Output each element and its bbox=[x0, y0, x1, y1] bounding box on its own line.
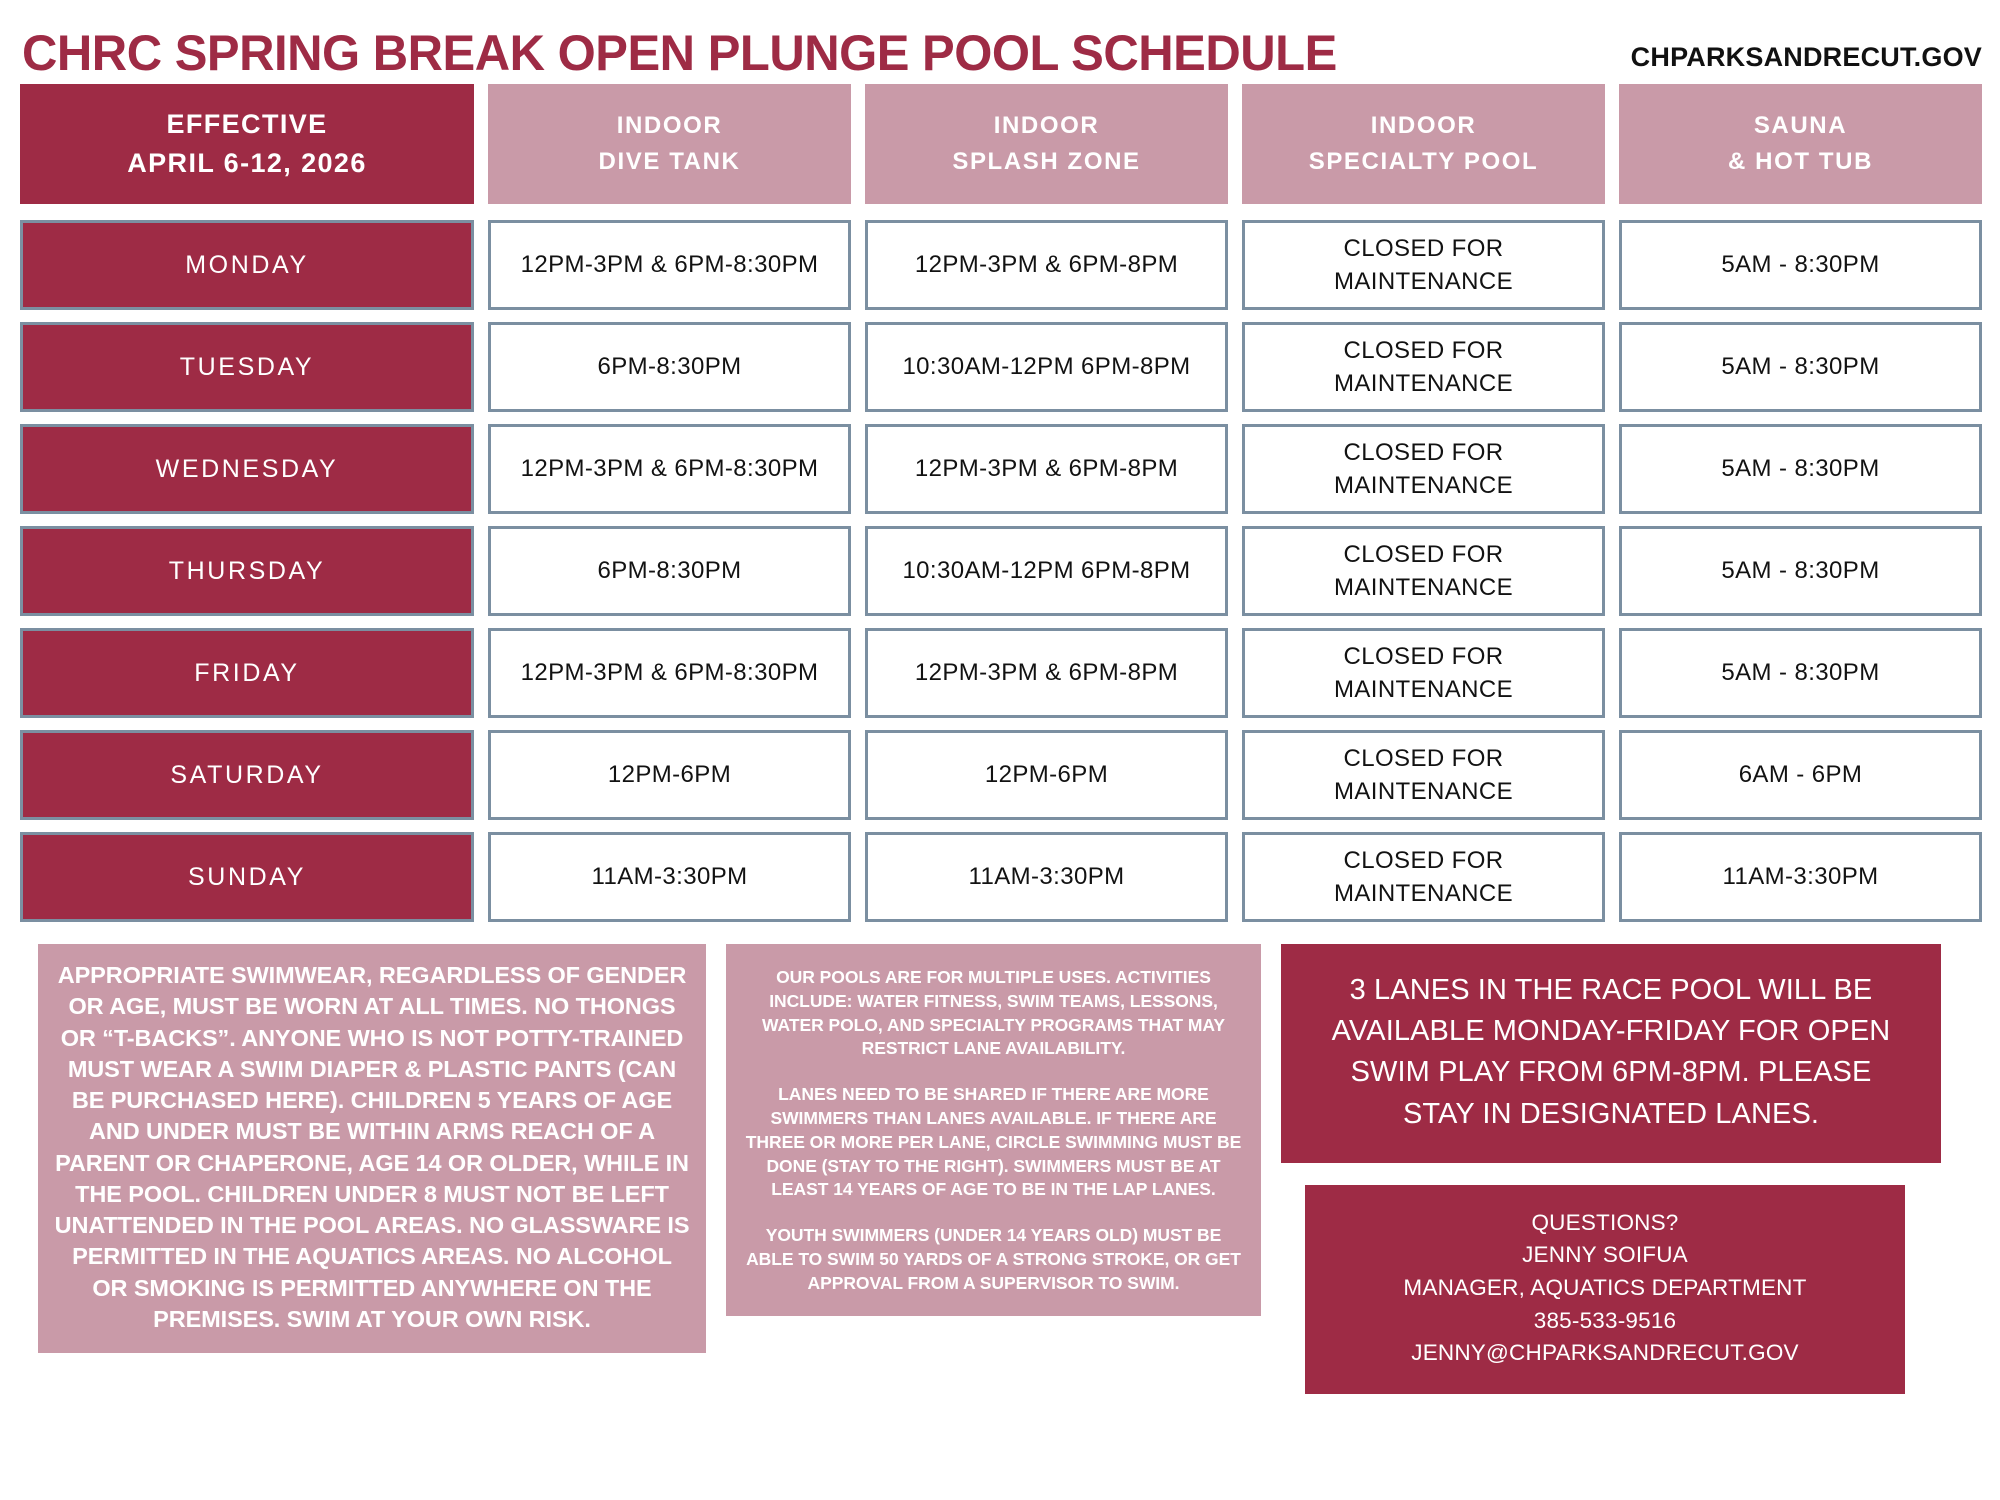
cell-wednesday-dive-tank: 12PM-3PM & 6PM-8:30PM bbox=[488, 424, 851, 514]
cell-monday-dive-tank: 12PM-3PM & 6PM-8:30PM bbox=[488, 220, 851, 310]
website-url: CHPARKSANDRECUT.GOV bbox=[1631, 42, 1982, 78]
column-header-line2: SPECIALTY POOL bbox=[1309, 144, 1539, 180]
table-row: THURSDAY 6PM-8:30PM 10:30AM-12PM 6PM-8PM… bbox=[20, 526, 1982, 616]
cell-wednesday-sauna-hot-tub: 5AM - 8:30PM bbox=[1619, 424, 1982, 514]
column-header-line1: SAUNA bbox=[1728, 108, 1873, 144]
day-label-wednesday: WEDNESDAY bbox=[20, 424, 474, 514]
column-header-line1: INDOOR bbox=[1309, 108, 1539, 144]
cell-saturday-splash-zone: 12PM-6PM bbox=[865, 730, 1228, 820]
table-row: FRIDAY 12PM-3PM & 6PM-8:30PM 12PM-3PM & … bbox=[20, 628, 1982, 718]
effective-label: EFFECTIVE bbox=[127, 105, 367, 144]
column-header-splash-zone: INDOOR SPLASH ZONE bbox=[865, 84, 1228, 204]
table-row: TUESDAY 6PM-8:30PM 10:30AM-12PM 6PM-8PM … bbox=[20, 322, 1982, 412]
cell-tuesday-splash-zone: 10:30AM-12PM 6PM-8PM bbox=[865, 322, 1228, 412]
contact-phone: 385-533-9516 bbox=[1325, 1305, 1885, 1338]
column-header-line2: DIVE TANK bbox=[599, 144, 741, 180]
questions-heading: QUESTIONS? bbox=[1325, 1207, 1885, 1240]
column-header-line2: SPLASH ZONE bbox=[952, 144, 1140, 180]
schedule-table: EFFECTIVE APRIL 6-12, 2026 INDOOR DIVE T… bbox=[0, 84, 2000, 922]
table-row: SUNDAY 11AM-3:30PM 11AM-3:30PM CLOSED FO… bbox=[20, 832, 1982, 922]
day-label-thursday: THURSDAY bbox=[20, 526, 474, 616]
swimwear-policy-note: APPROPRIATE SWIMWEAR, REGARDLESS OF GEND… bbox=[38, 944, 706, 1353]
cell-thursday-splash-zone: 10:30AM-12PM 6PM-8PM bbox=[865, 526, 1228, 616]
day-label-tuesday: TUESDAY bbox=[20, 322, 474, 412]
effective-date-header: EFFECTIVE APRIL 6-12, 2026 bbox=[20, 84, 474, 204]
day-label-sunday: SUNDAY bbox=[20, 832, 474, 922]
table-header-row: EFFECTIVE APRIL 6-12, 2026 INDOOR DIVE T… bbox=[20, 84, 1982, 204]
cell-thursday-specialty-pool: CLOSED FOR MAINTENANCE bbox=[1242, 526, 1605, 616]
questions-contact-note: QUESTIONS? JENNY SOIFUA MANAGER, AQUATIC… bbox=[1305, 1185, 1905, 1394]
column-header-sauna-hot-tub: SAUNA & HOT TUB bbox=[1619, 84, 1982, 204]
lane-usage-note: OUR POOLS ARE FOR MULTIPLE USES. ACTIVIT… bbox=[726, 944, 1261, 1316]
table-row: MONDAY 12PM-3PM & 6PM-8:30PM 12PM-3PM & … bbox=[20, 220, 1982, 310]
cell-wednesday-specialty-pool: CLOSED FOR MAINTENANCE bbox=[1242, 424, 1605, 514]
cell-tuesday-dive-tank: 6PM-8:30PM bbox=[488, 322, 851, 412]
cell-sunday-splash-zone: 11AM-3:30PM bbox=[865, 832, 1228, 922]
cell-saturday-specialty-pool: CLOSED FOR MAINTENANCE bbox=[1242, 730, 1605, 820]
column-header-line2: & HOT TUB bbox=[1728, 144, 1873, 180]
cell-wednesday-splash-zone: 12PM-3PM & 6PM-8PM bbox=[865, 424, 1228, 514]
cell-monday-splash-zone: 12PM-3PM & 6PM-8PM bbox=[865, 220, 1228, 310]
contact-role: MANAGER, AQUATICS DEPARTMENT bbox=[1325, 1272, 1885, 1305]
cell-monday-sauna-hot-tub: 5AM - 8:30PM bbox=[1619, 220, 1982, 310]
column-header-line1: INDOOR bbox=[952, 108, 1140, 144]
cell-tuesday-specialty-pool: CLOSED FOR MAINTENANCE bbox=[1242, 322, 1605, 412]
cell-saturday-dive-tank: 12PM-6PM bbox=[488, 730, 851, 820]
right-notes-column: 3 LANES IN THE RACE POOL WILL BE AVAILAB… bbox=[1281, 944, 1941, 1394]
pool-schedule-flyer: CHRC SPRING BREAK OPEN PLUNGE POOL SCHED… bbox=[0, 0, 2000, 1500]
cell-sunday-specialty-pool: CLOSED FOR MAINTENANCE bbox=[1242, 832, 1605, 922]
column-header-dive-tank: INDOOR DIVE TANK bbox=[488, 84, 851, 204]
column-header-line1: INDOOR bbox=[599, 108, 741, 144]
page-title: CHRC SPRING BREAK OPEN PLUNGE POOL SCHED… bbox=[22, 28, 1337, 78]
footer-notes: APPROPRIATE SWIMWEAR, REGARDLESS OF GEND… bbox=[0, 934, 2000, 1394]
lane-usage-paragraph-3: YOUTH SWIMMERS (UNDER 14 YEARS OLD) MUST… bbox=[742, 1224, 1245, 1295]
cell-friday-splash-zone: 12PM-3PM & 6PM-8PM bbox=[865, 628, 1228, 718]
lane-usage-paragraph-1: OUR POOLS ARE FOR MULTIPLE USES. ACTIVIT… bbox=[742, 966, 1245, 1061]
cell-sunday-sauna-hot-tub: 11AM-3:30PM bbox=[1619, 832, 1982, 922]
cell-sunday-dive-tank: 11AM-3:30PM bbox=[488, 832, 851, 922]
cell-monday-specialty-pool: CLOSED FOR MAINTENANCE bbox=[1242, 220, 1605, 310]
cell-tuesday-sauna-hot-tub: 5AM - 8:30PM bbox=[1619, 322, 1982, 412]
table-row: SATURDAY 12PM-6PM 12PM-6PM CLOSED FOR MA… bbox=[20, 730, 1982, 820]
cell-saturday-sauna-hot-tub: 6AM - 6PM bbox=[1619, 730, 1982, 820]
race-pool-note: 3 LANES IN THE RACE POOL WILL BE AVAILAB… bbox=[1281, 944, 1941, 1163]
lane-usage-paragraph-2: LANES NEED TO BE SHARED IF THERE ARE MOR… bbox=[742, 1083, 1245, 1202]
cell-friday-sauna-hot-tub: 5AM - 8:30PM bbox=[1619, 628, 1982, 718]
day-label-monday: MONDAY bbox=[20, 220, 474, 310]
cell-friday-dive-tank: 12PM-3PM & 6PM-8:30PM bbox=[488, 628, 851, 718]
day-label-saturday: SATURDAY bbox=[20, 730, 474, 820]
cell-thursday-sauna-hot-tub: 5AM - 8:30PM bbox=[1619, 526, 1982, 616]
flyer-header: CHRC SPRING BREAK OPEN PLUNGE POOL SCHED… bbox=[0, 0, 2000, 84]
column-header-specialty-pool: INDOOR SPECIALTY POOL bbox=[1242, 84, 1605, 204]
contact-email: JENNY@CHPARKSANDRECUT.GOV bbox=[1325, 1337, 1885, 1370]
cell-friday-specialty-pool: CLOSED FOR MAINTENANCE bbox=[1242, 628, 1605, 718]
day-label-friday: FRIDAY bbox=[20, 628, 474, 718]
table-row: WEDNESDAY 12PM-3PM & 6PM-8:30PM 12PM-3PM… bbox=[20, 424, 1982, 514]
contact-name: JENNY SOIFUA bbox=[1325, 1239, 1885, 1272]
effective-range: APRIL 6-12, 2026 bbox=[127, 144, 367, 183]
cell-thursday-dive-tank: 6PM-8:30PM bbox=[488, 526, 851, 616]
